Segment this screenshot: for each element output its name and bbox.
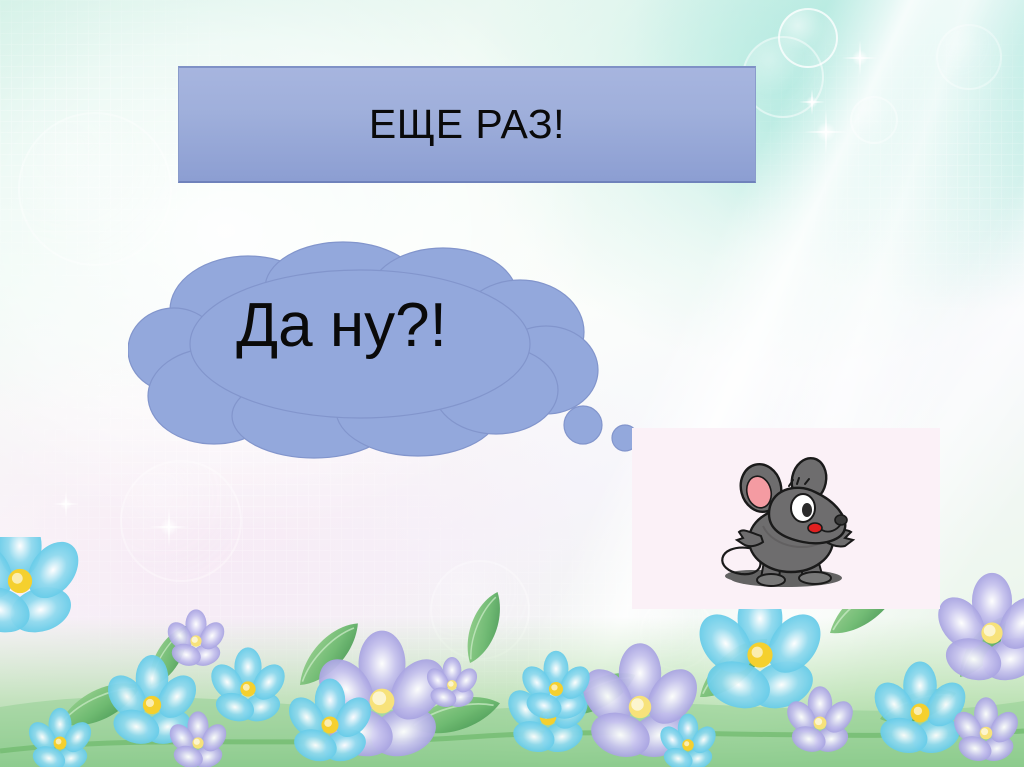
thought-bubble: Да ну?! <box>128 240 613 460</box>
page-title: ЕЩЕ РАЗ! <box>369 101 565 148</box>
picture-panel <box>632 428 940 609</box>
sparkle-icon <box>852 50 868 66</box>
title-banner: ЕЩЕ РАЗ! <box>178 66 756 183</box>
bokeh-bubble <box>430 560 530 660</box>
bokeh-bubble <box>120 460 242 582</box>
sparkle-icon <box>160 518 178 536</box>
slide-canvas: ЕЩЕ РАЗ! Да ну?! <box>0 0 1024 767</box>
cartoon-mouse-icon <box>691 452 881 592</box>
thought-bubble-text: Да ну?! <box>128 292 555 360</box>
sparkle-icon <box>806 96 818 108</box>
bokeh-bubble <box>850 96 898 144</box>
bokeh-bubble <box>936 24 1002 90</box>
sparkle-icon <box>60 498 72 510</box>
sparkle-icon <box>816 122 836 142</box>
